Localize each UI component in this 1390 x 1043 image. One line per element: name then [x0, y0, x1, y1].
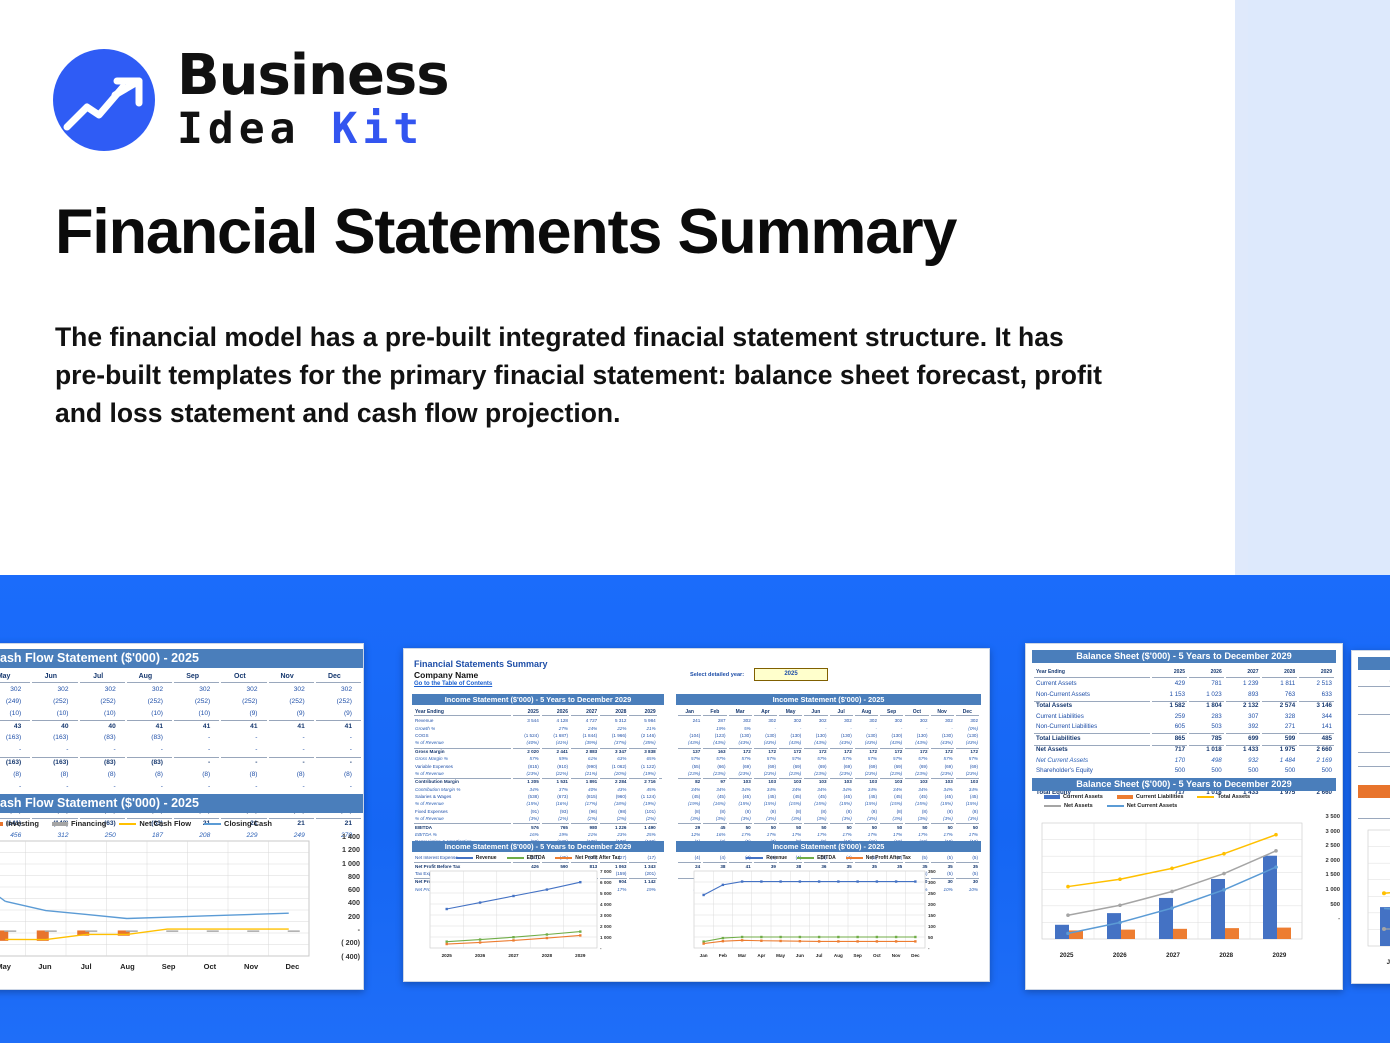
table-cell: 765 — [542, 823, 569, 829]
table-cell: 2025 — [513, 709, 540, 716]
table-cell: (252) — [221, 697, 266, 707]
svg-text:Mar: Mar — [738, 953, 746, 958]
legend-label: Net Assets — [1064, 803, 1093, 809]
select-year-input[interactable]: 2025 — [754, 668, 828, 681]
table-cell: (83) — [127, 757, 172, 768]
table-cell — [513, 725, 540, 730]
column-header: Nov — [269, 672, 314, 683]
table-cell: 503 — [1189, 723, 1224, 732]
table-cell: 27% — [542, 725, 569, 730]
table-cell: 17% — [754, 832, 777, 837]
table-cell: 34% — [855, 787, 878, 792]
table-cell: (45) — [905, 794, 928, 799]
row-label: % of Revenue — [414, 740, 511, 745]
table-cell: (252) — [269, 697, 314, 707]
table-row: Revenue3 5444 1284 7275 3125 984 — [414, 718, 662, 723]
table-cell: (23%) — [754, 771, 777, 776]
table-cell: 302 — [931, 718, 954, 723]
axis-tick: Jul — [66, 962, 107, 971]
table-cell: (252) — [174, 697, 219, 707]
table-cell: (43%) — [779, 740, 802, 745]
row-label: Gross Margin % — [414, 756, 511, 761]
table-cell: (91) — [513, 809, 540, 814]
table-cell: (252) — [316, 697, 361, 707]
svg-text:3 000: 3 000 — [600, 913, 612, 918]
table-cell: (9) — [221, 708, 266, 718]
table-cell: - — [269, 745, 314, 755]
table-cell: (96) — [571, 809, 598, 814]
table-cell: 3 347 — [600, 748, 627, 754]
table-row: Non-Current Liabilities605503392271141 — [1034, 723, 1334, 732]
table-cell: 605 — [1152, 723, 1187, 732]
table-cell: 498 — [1189, 756, 1224, 765]
table-row: Total Liabilities865785699599485 — [1034, 733, 1334, 743]
table-cell: (10) — [127, 708, 172, 718]
table-cell: 40 — [80, 720, 125, 731]
table-cell: (23%) — [830, 771, 853, 776]
table-cell: - — [779, 725, 802, 730]
table-cell: Dec — [956, 709, 979, 716]
table-cell: 302 — [221, 685, 266, 695]
table-cell: 1 582 — [1152, 701, 1187, 711]
table-cell: - — [316, 781, 361, 791]
row-label: Non-Current Assets — [1034, 690, 1150, 699]
table-cell: (130) — [855, 733, 878, 738]
table-cell: 172 — [931, 748, 954, 754]
table-cell: - — [221, 733, 266, 743]
table-cell: 302 — [127, 685, 172, 695]
table-row: 692 — [1358, 740, 1390, 751]
table-row: COGS(1 524)(1 687)(1 844)(1 966)(2 146) — [414, 733, 662, 738]
table-cell: (538) — [513, 794, 540, 799]
table-cell: 50 — [804, 823, 827, 829]
table-row: Net Assets7171 0181 4331 9752 660 — [1034, 745, 1334, 755]
legend-item: Closing Cash — [204, 819, 272, 828]
table-cell: 29 — [678, 823, 701, 829]
row-label: Year Ending — [414, 709, 511, 716]
table-row: % of Revenue(15%)(16%)(17%)(18%)(19%) — [414, 801, 662, 806]
table-cell: 172 — [754, 748, 777, 754]
table-cell: (43%) — [931, 740, 954, 745]
svg-text:4 000: 4 000 — [600, 902, 612, 907]
table-row: MayJunJulAugSepOctNovDec — [0, 672, 361, 683]
svg-text:-: - — [600, 946, 602, 951]
table-cell: - — [0, 745, 30, 755]
table-cell: 57% — [703, 756, 726, 761]
table-cell: 1 153 — [1152, 690, 1187, 699]
table-cell: 103 — [956, 778, 979, 784]
axis-tick: Sep — [148, 962, 189, 971]
table-cell: 302 — [855, 718, 878, 723]
table-cell: 1 023 — [1189, 690, 1224, 699]
table-cell: (15%) — [754, 801, 777, 806]
axis-tick: - — [1310, 916, 1340, 931]
table-cell: (43%) — [830, 740, 853, 745]
cash-flow-table: MayJunJulAugSepOctNovDec3023023023023023… — [0, 670, 363, 842]
table-cell: (22%) — [542, 771, 569, 776]
table-cell: 172 — [830, 748, 853, 754]
table-cell: 699 — [1226, 733, 1261, 743]
page-description: The financial model has a pre-built inte… — [55, 318, 1105, 432]
table-cell: (163) — [32, 733, 77, 743]
table-cell: (252) — [80, 697, 125, 707]
axis-tick: Dec — [272, 962, 313, 971]
table-cell: (43%) — [678, 740, 701, 745]
table-cell: 2 284 — [600, 778, 627, 784]
table-cell: (35%) — [629, 740, 656, 745]
table-cell: 271 — [1262, 723, 1297, 732]
table-cell: 17% — [905, 832, 928, 837]
income-statement-5y-title: Income Statement ($'000) - 5 Years to De… — [412, 694, 664, 705]
table-cell: 21% — [571, 832, 598, 837]
svg-text:Jul: Jul — [816, 953, 823, 958]
table-cell: 5 312 — [600, 718, 627, 723]
row-label: Gross Margin — [414, 748, 511, 754]
table-cell: (15%) — [855, 801, 878, 806]
axis-tick: 2029 — [1253, 952, 1306, 959]
legend-item: Net Current Assets — [1107, 803, 1177, 809]
table-cell: (8) — [830, 809, 853, 814]
table-cell: 57% — [855, 756, 878, 761]
axis-tick: 2027 — [1146, 952, 1199, 959]
table-cell: (123) — [703, 733, 726, 738]
table-cell: 103 — [804, 778, 827, 784]
table-cell: 302 — [804, 718, 827, 723]
table-cell: Apr — [754, 709, 777, 716]
table-cell: 50 — [830, 823, 853, 829]
table-row: Year Ending20252026202720282029 — [1034, 668, 1334, 678]
table-cell: - — [830, 725, 853, 730]
svg-text:Sep: Sep — [853, 953, 862, 958]
legend-label: Investing — [6, 819, 39, 828]
table-cell: 17% — [804, 832, 827, 837]
table-cell: 302 — [316, 685, 361, 695]
table-row: 786 — [1358, 752, 1390, 764]
table-cell: 17% — [830, 832, 853, 837]
table-cell: (3%) — [880, 816, 903, 821]
table-cell: 93 — [1358, 727, 1390, 738]
table-row: -------- — [0, 745, 361, 755]
table-cell: (990) — [571, 763, 598, 768]
table-cell: 34% — [830, 787, 853, 792]
axis-tick: 2025 — [1040, 952, 1093, 959]
table-cell: 50 — [880, 823, 903, 829]
table-cell: 124 — [1358, 701, 1390, 712]
table-row: 19%5%--------(0%) — [678, 725, 979, 730]
row-label: Fixed Expenses — [414, 809, 511, 814]
table-cell: 22% — [600, 725, 627, 730]
table-row: Gross Margin %57%59%61%63%65% — [414, 756, 662, 761]
legend-item: Financing — [52, 819, 106, 828]
row-label: Salaries & Wages — [414, 794, 511, 799]
clipped-table: Jan1 1741241 297936927865121 08150012512 — [1356, 673, 1390, 831]
table-cell: Mar — [729, 709, 752, 716]
table-cell: (23%) — [931, 771, 954, 776]
table-cell: 16% — [703, 832, 726, 837]
legend-item: Revenue — [456, 855, 497, 861]
table-cell: 512 — [1358, 766, 1390, 778]
table-cell: - — [880, 725, 903, 730]
table-cell: - — [855, 725, 878, 730]
table-cell: 3 544 — [513, 718, 540, 723]
table-cell: 63% — [600, 756, 627, 761]
table-row: 8297103103103103103103103103103103 — [678, 778, 979, 784]
table-cell: 17% — [931, 832, 954, 837]
legend-swatch — [456, 857, 473, 859]
table-cell: 1 484 — [1262, 756, 1297, 765]
table-of-contents-link[interactable]: Go to the Table of Contents — [414, 681, 492, 687]
axis-tick: Nov — [231, 962, 272, 971]
legend-swatch — [1107, 805, 1124, 807]
table-cell: 103 — [729, 778, 752, 784]
table-cell: (45) — [678, 794, 701, 799]
axis-tick: 3 000 — [1310, 829, 1340, 844]
income-5y-chart-legend: RevenueEBITDANet Profit After Tax — [412, 855, 664, 861]
table-row: Net Current Assets1704989321 4842 169 — [1034, 756, 1334, 765]
table-cell: 500 — [1299, 767, 1334, 776]
table-cell: (23%) — [855, 771, 878, 776]
axis-tick: May — [0, 962, 24, 971]
axis-tick: 1 500 — [1310, 872, 1340, 887]
table-cell: (43%) — [880, 740, 903, 745]
table-cell: 103 — [880, 778, 903, 784]
legend-item: Net Assets — [1044, 803, 1093, 809]
axis-tick: ( 400) — [308, 952, 360, 965]
table-row: 4340404141414141 — [0, 720, 361, 731]
table-cell: 35 — [956, 862, 979, 868]
svg-text:2 000: 2 000 — [600, 924, 612, 929]
row-label: Current Assets — [1034, 680, 1150, 689]
legend-label: Net Profit After Tax — [575, 855, 620, 861]
table-cell: 1 226 — [600, 823, 627, 829]
row-label: Contribution Margin — [414, 778, 511, 784]
legend-item: EBITDA — [797, 855, 836, 861]
table-cell: 16% — [513, 832, 540, 837]
table-cell: 19% — [542, 832, 569, 837]
table-cell: 37% — [542, 787, 569, 792]
table-row: Contribution Margin %34%37%40%43%45% — [414, 787, 662, 792]
table-cell: (69) — [754, 763, 777, 768]
column-header: Jan — [1358, 675, 1390, 687]
upward-trend-arrow-icon — [53, 49, 155, 151]
income-statement-5y-chart-title: Income Statement ($'000) - 5 Years to De… — [412, 841, 664, 852]
table-row: Salaries & Wages(538)(673)(815)(960)(1 1… — [414, 794, 662, 799]
table-cell: (43%) — [905, 740, 928, 745]
table-cell: 2 660 — [1299, 745, 1334, 755]
right-accent-panel-inner — [1248, 0, 1390, 578]
table-row: 124 — [1358, 701, 1390, 712]
table-cell: 41 — [174, 720, 219, 731]
table-cell: (8) — [905, 809, 928, 814]
row-label: Current Liabilities — [1034, 712, 1150, 721]
cash-flow-chart — [0, 836, 327, 961]
table-cell: (40%) — [513, 740, 540, 745]
table-row: (104)(123)(130)(130)(130)(130)(130)(130)… — [678, 733, 979, 738]
cash-flow-chart-legend: InvestingFinancingNet Cash FlowClosing C… — [0, 819, 363, 828]
table-cell: (55) — [678, 763, 701, 768]
column-header: May — [0, 672, 30, 683]
table-cell: 41 — [316, 720, 361, 731]
svg-text:Oct: Oct — [873, 953, 881, 958]
table-cell: 865 — [1152, 733, 1187, 743]
svg-text:6 000: 6 000 — [600, 880, 612, 885]
table-cell: 932 — [1226, 756, 1261, 765]
table-cell: 302 — [830, 718, 853, 723]
table-cell: 50 — [931, 823, 954, 829]
table-cell: (2%) — [600, 816, 627, 821]
table-row: (3%)(3%)(3%)(3%)(3%)(3%)(3%)(3%)(3%)(3%)… — [678, 816, 979, 821]
table-cell: (23%) — [703, 771, 726, 776]
financial-summary-screenshot-card[interactable]: Financial Statements Summary Company Nam… — [403, 648, 990, 982]
table-cell: 2028 — [600, 709, 627, 716]
table-cell: 1 142 — [629, 878, 656, 884]
table-row: % of Revenue(40%)(41%)(39%)(37%)(35%) — [414, 740, 662, 745]
svg-text:Apr: Apr — [757, 953, 765, 958]
table-cell: - — [269, 757, 314, 768]
row-label: % of Revenue — [414, 816, 511, 821]
table-cell: (3%) — [678, 816, 701, 821]
table-cell: 1 174 — [1358, 689, 1390, 700]
table-cell: 283 — [1189, 712, 1224, 721]
table-cell: (8) — [127, 769, 172, 779]
table-cell: (69) — [830, 763, 853, 768]
legend-item: Net Cash Flow — [119, 819, 191, 828]
table-cell: 50 — [905, 823, 928, 829]
table-cell: 61% — [571, 756, 598, 761]
table-cell: Jan — [678, 709, 701, 716]
table-cell: 763 — [1262, 690, 1297, 699]
table-cell: - — [127, 781, 172, 791]
table-row: (43%)(43%)(43%)(43%)(43%)(43%)(43%)(43%)… — [678, 740, 979, 745]
table-cell: (8) — [956, 809, 979, 814]
table-cell: (39%) — [571, 740, 598, 745]
svg-text:100: 100 — [928, 924, 936, 929]
table-cell: (3%) — [779, 816, 802, 821]
row-label: Net Current Assets — [1034, 756, 1150, 765]
cash-flow-screenshot-card[interactable]: Cash Flow Statement ($'000) - 2025 MayJu… — [0, 643, 364, 990]
table-cell: 97 — [703, 778, 726, 784]
clipped-header-bar — [1358, 657, 1390, 670]
table-cell: 10% — [956, 887, 979, 892]
table-cell: (8) — [0, 769, 30, 779]
legend-swatch — [119, 823, 136, 825]
clipped-chart — [1362, 826, 1390, 956]
select-year-label: Select detailed year: — [690, 672, 744, 678]
table-cell: 3 146 — [1299, 701, 1334, 711]
table-row: (55)(66)(69)(69)(69)(69)(69)(69)(69)(69)… — [678, 763, 979, 768]
table-cell: 5 984 — [629, 718, 656, 723]
table-cell: (10) — [0, 708, 30, 718]
table-cell: - — [32, 781, 77, 791]
income-statement-monthly-table: JanFebMarAprMayJunJulAugSepOctNovDec2412… — [676, 707, 981, 894]
table-cell: (8) — [269, 769, 314, 779]
table-cell: (1 062) — [600, 763, 627, 768]
table-cell: 34% — [703, 787, 726, 792]
table-cell: (3%) — [513, 816, 540, 821]
balance-sheet-screenshot-card[interactable]: Balance Sheet ($'000) - 5 Years to Decem… — [1025, 643, 1343, 990]
table-row: Current Liabilities259283307328344 — [1034, 712, 1334, 721]
table-cell: 170 — [1152, 756, 1187, 765]
legend-label: Revenue — [476, 855, 497, 861]
svg-text:350: 350 — [928, 869, 936, 874]
axis-tick: Jun — [24, 962, 65, 971]
table-cell: 34% — [804, 787, 827, 792]
clipped-screenshot-card[interactable]: Jan1 1741241 297936927865121 08150012512… — [1351, 650, 1390, 984]
table-cell: 57% — [956, 756, 979, 761]
table-cell: (19%) — [629, 801, 656, 806]
income-statement-monthly-chart: 35030025020015010050-JanFebMarAprMayJunJ… — [684, 867, 949, 962]
column-header: Oct — [221, 672, 266, 683]
table-cell: 34% — [678, 787, 701, 792]
table-cell: 40 — [32, 720, 77, 731]
table-cell: (8) — [754, 809, 777, 814]
table-cell: (163) — [32, 757, 77, 768]
table-cell: (15%) — [513, 801, 540, 806]
table-cell: 392 — [1226, 723, 1261, 732]
table-cell: 781 — [1189, 680, 1224, 689]
svg-text:1 000: 1 000 — [600, 935, 612, 940]
table-cell: 34% — [779, 787, 802, 792]
column-header: Jul — [80, 672, 125, 683]
table-cell: 1 018 — [1189, 745, 1224, 755]
axis-tick: 400 — [308, 898, 360, 911]
table-cell: (15%) — [880, 801, 903, 806]
table-row: Total Assets1 5821 8042 1322 5743 146 — [1034, 701, 1334, 711]
table-row: (163)(163)(83)(83)---- — [0, 733, 361, 743]
table-cell: (15%) — [931, 801, 954, 806]
table-cell: (23%) — [513, 771, 540, 776]
table-cell: 103 — [830, 778, 853, 784]
table-cell: (37%) — [600, 740, 627, 745]
table-cell: 1 343 — [629, 862, 656, 868]
table-row: 302302302302302302302302 — [0, 685, 361, 695]
svg-text:50: 50 — [928, 935, 934, 940]
table-cell: 24% — [571, 725, 598, 730]
page-title: Financial Statements Summary — [55, 196, 956, 268]
table-cell: (0%) — [956, 725, 979, 730]
legend-swatch — [797, 857, 814, 859]
table-cell: 344 — [1299, 712, 1334, 721]
table-cell: (1 124) — [629, 794, 656, 799]
table-cell: 2 883 — [571, 748, 598, 754]
table-cell: (3%) — [703, 816, 726, 821]
table-cell: 2029 — [1299, 668, 1334, 678]
table-row: (19%)(16%)(15%)(15%)(15%)(15%)(15%)(15%)… — [678, 801, 979, 806]
svg-text:Dec: Dec — [911, 953, 920, 958]
table-cell: (16%) — [703, 801, 726, 806]
row-label: COGS — [414, 733, 511, 738]
balance-sheet-x-axis-labels: 20252026202720282029 — [1040, 952, 1306, 959]
table-cell: (83) — [80, 733, 125, 743]
table-row: EBITDA5767659801 2261 490 — [414, 823, 662, 829]
summary-heading: Financial Statements Summary — [414, 659, 548, 669]
table-cell: 50 — [754, 823, 777, 829]
table-cell: - — [221, 745, 266, 755]
legend-label: Total Assets — [1217, 794, 1250, 800]
table-cell: 50 — [956, 823, 979, 829]
table-cell: 633 — [1299, 690, 1334, 699]
svg-text:5 000: 5 000 — [600, 891, 612, 896]
table-row: (8)(8)(8)(8)(8)(8)(8)(8)(8)(8)(8)(8) — [678, 809, 979, 814]
column-header: Sep — [174, 672, 219, 683]
table-cell: (252) — [127, 697, 172, 707]
table-cell: 82 — [678, 778, 701, 784]
table-cell: (9) — [316, 708, 361, 718]
table-cell: (8) — [779, 809, 802, 814]
table-cell: 500 — [1189, 767, 1224, 776]
table-cell: 485 — [1299, 733, 1334, 743]
table-cell: 302 — [32, 685, 77, 695]
